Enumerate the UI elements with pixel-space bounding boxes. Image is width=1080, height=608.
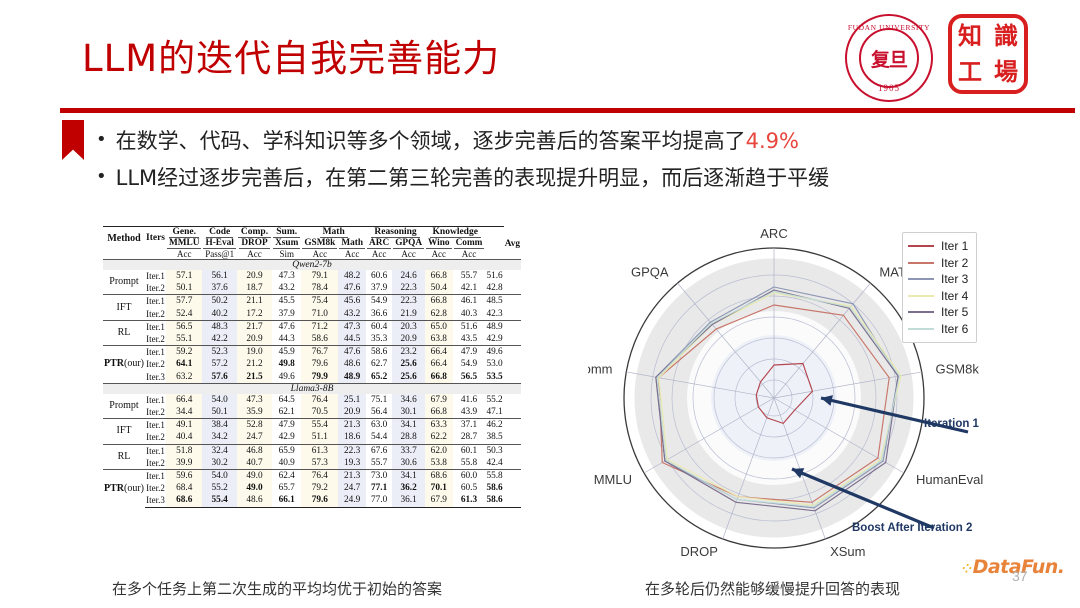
table-cell-value: 76.4 <box>301 394 338 406</box>
table-row: Iter.240.434.224.742.951.118.654.428.862… <box>103 431 521 444</box>
table-benchmark-header: ARC <box>366 238 392 249</box>
table-cell-value: 52.3 <box>202 346 236 359</box>
table-cell-value: 68.6 <box>166 494 202 507</box>
table-cell-value: 50.4 <box>425 282 453 295</box>
table-cell-value: 40.9 <box>272 457 301 470</box>
table-cell-value: 55.8 <box>453 457 486 470</box>
table-metric-header: Acc <box>366 249 392 260</box>
table-group-header: Code <box>202 227 236 239</box>
table-cell-value: 53.5 <box>485 371 503 384</box>
table-cell-value: 67.6 <box>366 444 392 457</box>
radar-axis-label: ARC <box>760 226 787 241</box>
table-cell-value: 71.2 <box>301 320 338 333</box>
table-cell-value: 51.8 <box>166 444 202 457</box>
table-cell-value: 37.9 <box>366 282 392 295</box>
table-cell-value: 63.2 <box>166 371 202 384</box>
table-cell-value: 47.9 <box>272 419 301 432</box>
table-cell-value: 21.5 <box>237 371 272 384</box>
table-cell-value: 55.4 <box>301 419 338 432</box>
pennant-marker <box>62 120 84 160</box>
table-benchmark-header: H-Eval <box>202 238 236 249</box>
table-model-row: Qwen2-7b <box>103 260 521 271</box>
table-row: Iter.255.142.220.944.358.644.535.320.963… <box>103 333 521 346</box>
legend-item[interactable]: Iter 6 <box>908 321 968 338</box>
table-cell-value: 40.4 <box>166 431 202 444</box>
table-cell-value: 25.6 <box>392 371 425 384</box>
table-cell-value: 79.2 <box>301 482 338 494</box>
legend-item[interactable]: Iter 3 <box>908 271 968 288</box>
table-cell-value: 41.6 <box>453 394 486 406</box>
table-benchmark-header: Comm <box>453 238 486 249</box>
table-cell-value: 22.3 <box>392 282 425 295</box>
table-cell-value: 66.8 <box>425 295 453 308</box>
table-cell-iter: Iter.2 <box>145 308 166 321</box>
legend-item[interactable]: Iter 1 <box>908 238 968 255</box>
legend-swatch <box>908 328 934 330</box>
legend-swatch <box>908 311 934 313</box>
table-cell-value: 34.2 <box>202 431 236 444</box>
table-cell-value: 36.2 <box>392 482 425 494</box>
caption-left: 在多个任务上第二次生成的平均均优于初始的答案 <box>112 578 442 599</box>
table-group-header: Reasoning <box>366 227 425 239</box>
table-cell-value: 59.2 <box>166 346 202 359</box>
legend-label: Iter 3 <box>941 272 968 286</box>
table-cell-value: 66.1 <box>272 494 301 507</box>
table-cell-value: 24.6 <box>392 270 425 282</box>
seal-glyph: 复旦 <box>859 28 919 88</box>
table-cell-value: 20.9 <box>237 333 272 346</box>
table-cell-value: 67.9 <box>425 394 453 406</box>
table-cell-value: 19.3 <box>338 457 366 470</box>
legend-item[interactable]: Iter 2 <box>908 255 968 272</box>
table-cell-value: 48.9 <box>485 320 503 333</box>
table-cell-value: 65.7 <box>272 482 301 494</box>
legend-item[interactable]: Iter 4 <box>908 288 968 305</box>
page-number: 37 <box>1012 568 1028 584</box>
table-cell-value: 45.5 <box>272 295 301 308</box>
table-cell-value: 42.2 <box>202 333 236 346</box>
table-cell-value: 47.6 <box>338 282 366 295</box>
table-cell-value: 22.3 <box>338 444 366 457</box>
table-cell-iter: Iter.1 <box>145 470 166 483</box>
annotation-boost: Boost After Iteration 2 <box>852 522 972 534</box>
table-cell-value: 61.3 <box>453 494 486 507</box>
table-benchmark-header: Wino <box>425 238 453 249</box>
table-cell-value: 21.9 <box>392 308 425 321</box>
table-benchmark-header: GPQA <box>392 238 425 249</box>
table-cell-value: 56.5 <box>453 371 486 384</box>
table-row: RLIter.156.548.321.747.671.247.360.420.3… <box>103 320 521 333</box>
table-cell-value: 60.0 <box>453 470 486 483</box>
results-table: MethodItersGene.CodeComp.Sum.MathReasoni… <box>103 226 521 508</box>
table-cell-value: 40.2 <box>202 308 236 321</box>
table-cell-value: 42.3 <box>485 308 503 321</box>
table-cell-value: 49.0 <box>237 482 272 494</box>
legend-label: Iter 2 <box>941 256 968 270</box>
results-table-container: MethodItersGene.CodeComp.Sum.MathReasoni… <box>103 226 521 508</box>
table-cell-value: 38.4 <box>202 419 236 432</box>
table-benchmark-row: MMLUH-EvalDROPXsumGSM8kMathARCGPQAWinoCo… <box>103 238 521 249</box>
table-metric-row: AccPass@1AccSimAccAccAccAccAccAcc <box>103 249 521 260</box>
table-cell-value: 20.3 <box>392 320 425 333</box>
results-table-body: MethodItersGene.CodeComp.Sum.MathReasoni… <box>103 227 521 508</box>
table-cell-value: 51.1 <box>301 431 338 444</box>
legend-item[interactable]: Iter 5 <box>908 304 968 321</box>
table-cell-iter: Iter.2 <box>145 457 166 470</box>
table-cell-value: 66.4 <box>425 358 453 370</box>
table-cell-value: 42.4 <box>485 457 503 470</box>
table-metric-header: Sim <box>272 249 301 260</box>
table-cell-value: 54.4 <box>366 431 392 444</box>
annotation-iteration-1: Iteration 1 <box>924 418 979 430</box>
table-cell-value: 42.1 <box>453 282 486 295</box>
table-cell-value: 58.6 <box>485 494 503 507</box>
table-cell-value: 40.3 <box>453 308 486 321</box>
table-cell-value: 25.6 <box>392 358 425 370</box>
table-cell-value: 42.8 <box>485 282 503 295</box>
table-row: RLIter.151.832.446.865.961.322.367.633.7… <box>103 444 521 457</box>
table-metric-header <box>485 249 503 260</box>
table-cell-value: 44.3 <box>272 333 301 346</box>
table-cell-value: 54.0 <box>202 470 236 483</box>
table-cell-value: 43.2 <box>272 282 301 295</box>
table-cell-value: 45.9 <box>272 346 301 359</box>
table-cell-value: 37.6 <box>202 282 236 295</box>
table-cell-value: 70.5 <box>301 406 338 419</box>
table-cell-value: 20.9 <box>338 406 366 419</box>
table-cell-value: 54.9 <box>453 358 486 370</box>
table-cell-value: 23.2 <box>392 346 425 359</box>
table-cell-value: 21.1 <box>237 295 272 308</box>
radar-axis-label: GSM8k <box>936 362 980 377</box>
table-row: PTR(our)Iter.159.654.049.062.476.421.373… <box>103 470 521 483</box>
table-row: IFTIter.149.138.452.847.955.421.363.034.… <box>103 419 521 432</box>
table-cell-value: 43.2 <box>338 308 366 321</box>
table-cell-method: PTR(our) <box>103 346 145 384</box>
table-cell-value: 55.2 <box>485 394 503 406</box>
table-cell-value: 24.7 <box>237 431 272 444</box>
table-cell-value: 51.6 <box>453 320 486 333</box>
table-cell-value: 35.3 <box>366 333 392 346</box>
table-cell-value: 24.7 <box>338 482 366 494</box>
radar-axis-label: XSum <box>830 544 865 559</box>
table-cell-value: 61.3 <box>301 444 338 457</box>
table-cell-value: 42.9 <box>485 333 503 346</box>
table-cell-value: 79.1 <box>301 270 338 282</box>
table-cell-value: 34.6 <box>392 394 425 406</box>
table-cell-value: 36.1 <box>392 494 425 507</box>
table-cell-value: 70.1 <box>425 482 453 494</box>
table-cell-value: 48.5 <box>485 295 503 308</box>
table-benchmark-header: Avg <box>504 238 521 249</box>
table-cell-value: 57.6 <box>202 371 236 384</box>
table-cell-value: 59.6 <box>166 470 202 483</box>
table-group-header: Math <box>301 227 366 239</box>
table-cell-iter: Iter.2 <box>145 482 166 494</box>
title-divider <box>60 108 1075 113</box>
table-cell-value: 17.2 <box>237 308 272 321</box>
legend-swatch <box>908 262 934 264</box>
table-cell-value: 56.5 <box>166 320 202 333</box>
table-cell-value: 44.5 <box>338 333 366 346</box>
table-cell-iter: Iter.1 <box>145 270 166 282</box>
table-cell-value: 34.1 <box>392 470 425 483</box>
bullet-text: 在数学、代码、学科知识等多个领域，逐步完善后的答案平均提高了 <box>116 129 746 153</box>
table-cell-value: 62.8 <box>425 308 453 321</box>
table-benchmark-header: GSM8k <box>301 238 338 249</box>
table-cell-value: 54.9 <box>366 295 392 308</box>
table-cell-value: 62.7 <box>366 358 392 370</box>
table-cell-iter: Iter.3 <box>145 371 166 384</box>
table-cell-value: 53.8 <box>425 457 453 470</box>
table-cell-value: 49.8 <box>272 358 301 370</box>
table-cell-value: 21.2 <box>237 358 272 370</box>
table-cell-value: 30.1 <box>392 406 425 419</box>
table-group-header: Knowledge <box>425 227 485 239</box>
table-cell-value: 18.6 <box>338 431 366 444</box>
table-cell-value: 79.6 <box>301 358 338 370</box>
table-cell-method: RL <box>103 320 145 345</box>
table-group-header: Comp. <box>237 227 272 239</box>
table-cell-value: 55.4 <box>202 494 236 507</box>
table-cell-value: 58.6 <box>366 346 392 359</box>
table-metric-header: Acc <box>453 249 486 260</box>
table-cell-value: 68.4 <box>166 482 202 494</box>
table-cell-value: 60.6 <box>366 270 392 282</box>
datafun-dots: ⁘ <box>962 562 972 576</box>
table-row: PromptIter.157.156.120.947.379.148.260.6… <box>103 270 521 282</box>
table-model-row: Llama3-8B <box>103 383 521 394</box>
table-cell-value: 55.2 <box>202 482 236 494</box>
table-cell-value: 40.7 <box>237 457 272 470</box>
radar-axis-label: HumanEval <box>916 472 983 487</box>
table-cell-value: 48.6 <box>237 494 272 507</box>
legend-label: Iter 6 <box>941 322 968 336</box>
table-cell-value: 77.1 <box>366 482 392 494</box>
table-cell-value: 53.0 <box>485 358 503 370</box>
table-cell-value: 22.3 <box>392 295 425 308</box>
table-cell-method: Prompt <box>103 270 145 295</box>
table-cell-value: 66.8 <box>425 406 453 419</box>
list-item: • 在数学、代码、学科知识等多个领域，逐步完善后的答案平均提高了4.9% <box>96 126 1056 158</box>
radar-axis-label: Comm <box>588 362 612 377</box>
table-cell-value: 52.8 <box>237 419 272 432</box>
table-cell-value: 45.6 <box>338 295 366 308</box>
table-cell-value: 66.4 <box>166 394 202 406</box>
table-cell-iter: Iter.1 <box>145 444 166 457</box>
table-row: IFTIter.157.750.221.145.575.445.654.922.… <box>103 295 521 308</box>
table-cell-value: 75.1 <box>366 394 392 406</box>
legend-swatch <box>908 278 934 280</box>
table-cell-iter: Iter.2 <box>145 431 166 444</box>
table-group-header: Sum. <box>272 227 301 239</box>
table-cell-value: 79.9 <box>301 371 338 384</box>
table-cell-method: Prompt <box>103 394 145 419</box>
table-cell-value: 51.6 <box>485 270 503 282</box>
table-row: Iter.268.455.249.065.779.224.777.136.270… <box>103 482 521 494</box>
table-cell-value: 34.1 <box>392 419 425 432</box>
table-cell-value: 49.6 <box>485 346 503 359</box>
table-cell-value: 79.6 <box>301 494 338 507</box>
page-title: LLM的迭代自我完善能力 <box>82 28 500 82</box>
table-cell-value: 65.0 <box>425 320 453 333</box>
kg-char-2: 識 <box>994 24 1018 48</box>
table-cell-value: 60.4 <box>366 320 392 333</box>
table-cell-value: 33.7 <box>392 444 425 457</box>
table-cell-value: 42.9 <box>272 431 301 444</box>
table-cell-value: 36.6 <box>366 308 392 321</box>
table-cell-value: 77.0 <box>366 494 392 507</box>
table-model-name: Qwen2-7b <box>103 260 521 271</box>
table-header-iters: Iters <box>145 227 166 250</box>
table-row: Iter.368.655.448.666.179.624.977.036.167… <box>103 494 521 507</box>
table-row: Iter.234.450.135.962.170.520.956.430.166… <box>103 406 521 419</box>
table-cell-method: IFT <box>103 419 145 444</box>
table-cell-method: RL <box>103 444 145 469</box>
seal-top-text: FUDAN UNIVERSITY <box>847 23 931 32</box>
bullet-text: LLM经过逐步完善后，在第二第三轮完善的表现提升明显，而后逐渐趋于平缓 <box>116 166 830 190</box>
table-cell-value: 66.8 <box>425 371 453 384</box>
table-cell-iter: Iter.1 <box>145 320 166 333</box>
table-cell-value: 55.7 <box>366 457 392 470</box>
radar-axis-label: MMLU <box>594 472 632 487</box>
table-cell-value: 47.6 <box>338 346 366 359</box>
legend-label: Iter 5 <box>941 305 968 319</box>
table-cell-value: 49.6 <box>272 371 301 384</box>
table-header-method: Method <box>103 227 145 250</box>
chart-legend: Iter 1Iter 2Iter 3Iter 4Iter 5Iter 6 <box>902 232 977 343</box>
table-cell-value: 20.9 <box>237 270 272 282</box>
table-cell-value: 19.0 <box>237 346 272 359</box>
table-cell-value: 68.6 <box>425 470 453 483</box>
table-cell-value: 21.7 <box>237 320 272 333</box>
kg-char-3: 工 <box>958 60 982 84</box>
table-cell-value: 60.5 <box>453 482 486 494</box>
table-cell-value: 56.4 <box>366 406 392 419</box>
table-cell-value: 50.1 <box>166 282 202 295</box>
bullet-highlight: 4.9% <box>746 129 799 153</box>
table-row: Iter.363.257.621.549.679.948.965.225.666… <box>103 371 521 384</box>
fudan-university-seal: FUDAN UNIVERSITY 复旦 1905 <box>845 14 933 102</box>
table-cell-value: 28.7 <box>453 431 486 444</box>
table-cell-method: IFT <box>103 295 145 320</box>
table-cell-value: 62.1 <box>272 406 301 419</box>
table-cell-value: 58.6 <box>485 482 503 494</box>
table-cell-value: 57.7 <box>166 295 202 308</box>
table-metric-header: Acc <box>301 249 338 260</box>
table-row: Iter.239.930.240.740.957.319.355.730.653… <box>103 457 521 470</box>
table-group-header-row: MethodItersGene.CodeComp.Sum.MathReasoni… <box>103 227 521 239</box>
table-cell-value: 75.4 <box>301 295 338 308</box>
kg-char-4: 場 <box>994 60 1018 84</box>
table-cell-value: 56.1 <box>202 270 236 282</box>
legend-label: Iter 4 <box>941 289 968 303</box>
table-metric-header: Acc <box>425 249 453 260</box>
table-cell-value: 18.7 <box>237 282 272 295</box>
table-cell-iter: Iter.3 <box>145 494 166 507</box>
table-cell-value: 66.4 <box>425 346 453 359</box>
table-cell-value: 71.0 <box>301 308 338 321</box>
table-cell-value: 67.9 <box>425 494 453 507</box>
table-cell-value: 60.1 <box>453 444 486 457</box>
table-cell-value: 28.8 <box>392 431 425 444</box>
table-cell-value: 37.1 <box>453 419 486 432</box>
table-header-spacer <box>485 227 503 250</box>
table-cell-value: 57.3 <box>301 457 338 470</box>
table-cell-value: 37.9 <box>272 308 301 321</box>
table-cell-value: 46.2 <box>485 419 503 432</box>
table-cell-value: 58.6 <box>301 333 338 346</box>
table-cell-value: 62.4 <box>272 470 301 483</box>
table-row: Iter.264.157.221.249.879.648.662.725.666… <box>103 358 521 370</box>
table-cell-iter: Iter.2 <box>145 282 166 295</box>
table-cell-value: 43.9 <box>453 406 486 419</box>
table-cell-value: 65.2 <box>366 371 392 384</box>
table-cell-value: 43.5 <box>453 333 486 346</box>
table-cell-value: 55.1 <box>166 333 202 346</box>
legend-label: Iter 1 <box>941 239 968 253</box>
table-cell-value: 66.8 <box>425 270 453 282</box>
table-model-name: Llama3-8B <box>103 383 521 394</box>
table-cell-value: 47.6 <box>272 320 301 333</box>
table-group-header: Gene. <box>166 227 202 239</box>
table-cell-value: 47.3 <box>237 394 272 406</box>
table-cell-value: 65.9 <box>272 444 301 457</box>
table-cell-value: 48.6 <box>338 358 366 370</box>
table-cell-iter: Iter.2 <box>145 358 166 370</box>
bullet-dot: • <box>96 126 107 155</box>
table-cell-value: 73.0 <box>366 470 392 483</box>
table-cell-value: 32.4 <box>202 444 236 457</box>
table-cell-value: 55.7 <box>453 270 486 282</box>
table-cell-value: 50.1 <box>202 406 236 419</box>
table-cell-value: 57.2 <box>202 358 236 370</box>
radar-chart: ARCMATHGSM8kHumanEvalXSumDROPMMLUCommGPQ… <box>588 222 1058 572</box>
table-cell-value: 63.0 <box>366 419 392 432</box>
table-cell-value: 47.9 <box>453 346 486 359</box>
table-row: PTR(our)Iter.159.252.319.045.976.747.658… <box>103 346 521 359</box>
caption-right: 在多轮后仍然能够缓慢提升回答的表现 <box>645 578 900 599</box>
table-cell-value: 47.3 <box>338 320 366 333</box>
table-cell-value: 34.4 <box>166 406 202 419</box>
table-cell-value: 30.6 <box>392 457 425 470</box>
table-cell-value: 49.0 <box>237 470 272 483</box>
table-cell-value: 76.4 <box>301 470 338 483</box>
table-row: Iter.250.137.618.743.278.447.637.922.350… <box>103 282 521 295</box>
bullet-list: • 在数学、代码、学科知识等多个领域，逐步完善后的答案平均提高了4.9% • L… <box>96 126 1056 199</box>
table-cell-value: 30.2 <box>202 457 236 470</box>
table-benchmark-header: Math <box>338 238 366 249</box>
table-cell-value: 25.1 <box>338 394 366 406</box>
table-cell-method: PTR(our) <box>103 470 145 508</box>
table-benchmark-header: Xsum <box>272 238 301 249</box>
table-cell-value: 54.0 <box>202 394 236 406</box>
table-cell-value: 38.5 <box>485 431 503 444</box>
table-cell-value: 57.1 <box>166 270 202 282</box>
table-cell-value: 48.2 <box>338 270 366 282</box>
table-cell-iter: Iter.2 <box>145 333 166 346</box>
table-cell-value: 62.0 <box>425 444 453 457</box>
knowledge-works-logo: 知 識 工 場 <box>948 14 1028 94</box>
seal-year: 1905 <box>847 83 931 93</box>
table-cell-iter: Iter.1 <box>145 394 166 406</box>
table-cell-value: 35.9 <box>237 406 272 419</box>
table-cell-value: 48.9 <box>338 371 366 384</box>
table-metric-header: Acc <box>237 249 272 260</box>
table-cell-value: 64.1 <box>166 358 202 370</box>
table-cell-value: 46.1 <box>453 295 486 308</box>
table-cell-value: 39.9 <box>166 457 202 470</box>
